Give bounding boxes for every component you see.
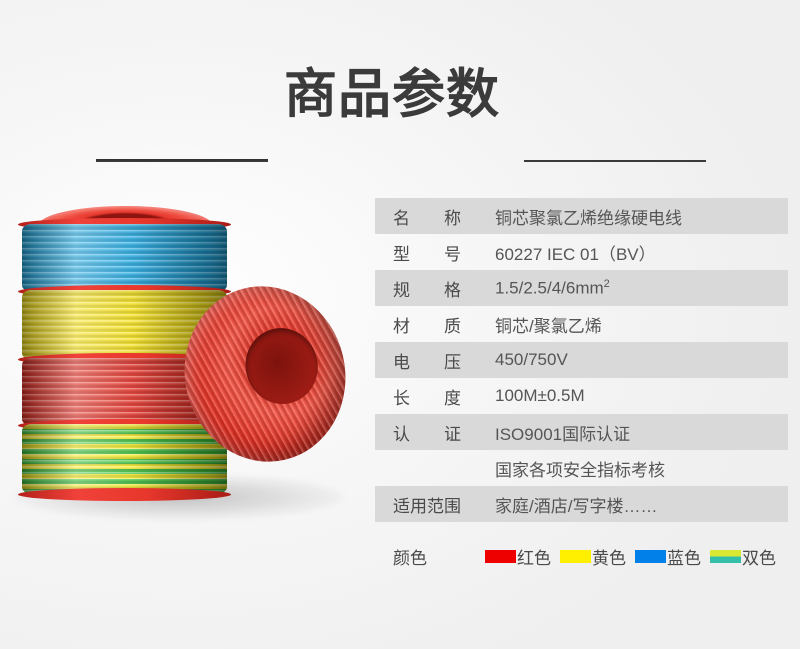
color-option-dual: 双色 <box>710 544 776 569</box>
swatch-dual-color <box>710 550 741 563</box>
spec-label-application: 适用范围 <box>375 492 495 517</box>
page-title: 商品参数 <box>276 58 508 132</box>
table-row: 国家各项安全指标考核 <box>375 450 788 486</box>
color-row-label: 颜色 <box>375 544 485 569</box>
title-rule-left <box>96 159 268 162</box>
table-row: 长 度 100M±0.5M <box>375 378 788 414</box>
color-name-red: 红色 <box>517 544 551 569</box>
spec-label-name: 名 称 <box>375 204 495 229</box>
color-option-blue: 蓝色 <box>635 544 701 569</box>
table-row: 型 号 60227 IEC 01（BV） <box>375 234 788 270</box>
spec-value-material: 铜芯/聚氯乙烯 <box>495 312 788 337</box>
table-row: 规 格 1.5/2.5/4/6mm2 <box>375 270 788 306</box>
table-row: 适用范围 家庭/酒店/写字楼…… <box>375 486 788 522</box>
spec-label-material: 材 质 <box>375 312 495 337</box>
spec-table: 名 称 铜芯聚氯乙烯绝缘硬电线 型 号 60227 IEC 01（BV） 规 格… <box>375 198 788 522</box>
color-row: 颜色 红色 黄色 蓝色 双色 <box>375 536 788 576</box>
color-option-yellow: 黄色 <box>560 544 626 569</box>
spec-label-specification: 规 格 <box>375 276 495 301</box>
title-rule-right <box>524 160 706 162</box>
page-title-block: 商品参数 <box>0 58 800 132</box>
table-row: 名 称 铜芯聚氯乙烯绝缘硬电线 <box>375 198 788 234</box>
spec-value-application: 家庭/酒店/写字楼…… <box>495 492 788 517</box>
spec-value-voltage: 450/750V <box>495 350 788 370</box>
spec-value-specification: 1.5/2.5/4/6mm2 <box>495 278 788 299</box>
table-row: 材 质 铜芯/聚氯乙烯 <box>375 306 788 342</box>
spec-label-certification: 认 证 <box>375 420 495 445</box>
color-name-blue: 蓝色 <box>667 544 701 569</box>
swatch-red <box>485 550 516 563</box>
swatch-blue <box>635 550 666 563</box>
spec-value-model: 60227 IEC 01（BV） <box>495 240 788 265</box>
spec-label-length: 长 度 <box>375 384 495 409</box>
table-row: 电 压 450/750V <box>375 342 788 378</box>
spec-value-certification: ISO9001国际认证 <box>495 420 788 445</box>
spool-ring <box>18 488 231 501</box>
color-name-dual: 双色 <box>742 544 776 569</box>
blue-coil <box>22 224 227 292</box>
color-name-yellow: 黄色 <box>592 544 626 569</box>
color-option-red: 红色 <box>485 544 551 569</box>
spec-value-name: 铜芯聚氯乙烯绝缘硬电线 <box>495 204 788 229</box>
spec-label-model: 型 号 <box>375 240 495 265</box>
spec-value-length: 100M±0.5M <box>495 386 788 406</box>
spec-label-voltage: 电 压 <box>375 348 495 373</box>
table-row: 认 证 ISO9001国际认证 <box>375 414 788 450</box>
spec-value-certification-cont: 国家各项安全指标考核 <box>495 456 788 481</box>
swatch-yellow <box>560 550 591 563</box>
color-swatch-list: 红色 黄色 蓝色 双色 <box>485 544 788 569</box>
product-image <box>0 178 350 550</box>
product-spec-page: 商品参数 <box>0 0 800 649</box>
coil-shading <box>22 224 227 292</box>
